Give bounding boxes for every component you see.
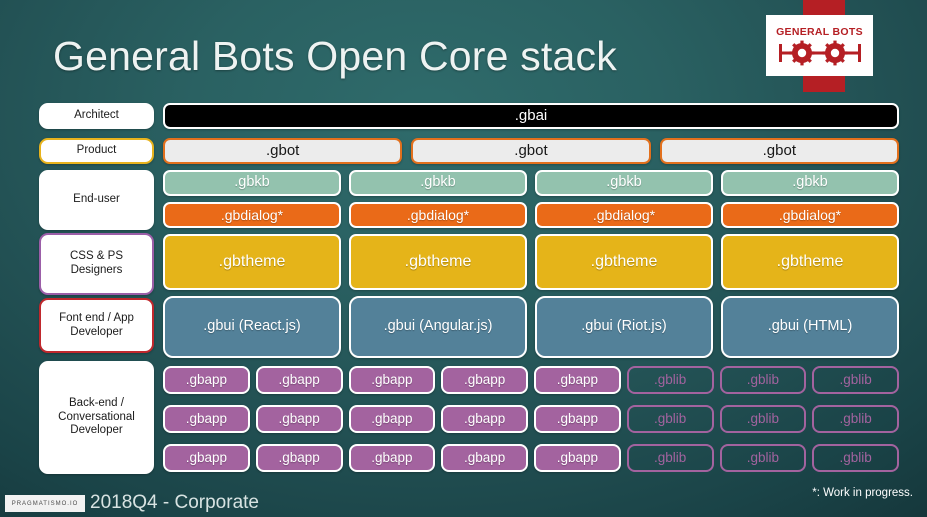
grid-gbapp-item: .gbapp: [349, 366, 436, 394]
grid-gbapp-item: .gbapp: [256, 405, 343, 433]
row-gbot-item: .gbot: [411, 138, 650, 164]
row-gbui-item: .gbui (Angular.js): [349, 296, 527, 358]
grid-gblib-item: .gblib: [720, 366, 807, 394]
footer-note: *: Work in progress.: [812, 487, 913, 499]
role-label-line: Back-end /: [69, 397, 124, 411]
role-label-line: Product: [77, 144, 117, 158]
grid-gbapp-item: .gbapp: [441, 444, 528, 472]
role-label-line: Conversational: [58, 411, 135, 425]
row-gbkb-item: .gbkb: [721, 170, 899, 196]
general-bots-logo: GENERAL BOTS: [766, 15, 873, 76]
row-gbtheme-item: .gbtheme: [163, 234, 341, 290]
row-gbkb-item: .gbkb: [349, 170, 527, 196]
row-gbot-item: .gbot: [660, 138, 899, 164]
slide: GENERAL BOTS: [0, 0, 927, 517]
role-label-line: Font end / App: [59, 312, 134, 326]
gears-logo-icon: [777, 40, 863, 66]
row-gbtheme-item: .gbtheme: [349, 234, 527, 290]
row-gbkb-item: .gbkb: [163, 170, 341, 196]
grid-gblib-item: .gblib: [627, 405, 714, 433]
role-chip: Architect: [39, 103, 154, 129]
role-label-line: CSS & PS: [70, 250, 123, 264]
row-gbai-item: .gbai: [163, 103, 899, 129]
grid-gbapp-item: .gbapp: [534, 444, 621, 472]
role-label-line: End-user: [73, 193, 120, 207]
grid-gbapp-item: .gbapp: [163, 366, 250, 394]
row-gbui-item: .gbui (Riot.js): [535, 296, 713, 358]
grid-gblib-item: .gblib: [720, 444, 807, 472]
role-chip: Product: [39, 138, 154, 164]
grid-gbapp-item: .gbapp: [349, 405, 436, 433]
footer-edition: 2018Q4 - Corporate: [90, 492, 259, 514]
pragmatismo-logo: PRAGMATISMO.IO: [5, 495, 85, 512]
grid-gbapp-item: .gbapp: [441, 405, 528, 433]
grid-gblib-item: .gblib: [812, 444, 899, 472]
grid-gbapp-item: .gbapp: [534, 405, 621, 433]
row-gbdialog-item: .gbdialog*: [349, 202, 527, 228]
role-chip: Back-end /ConversationalDeveloper: [39, 361, 154, 474]
row-gbui-item: .gbui (React.js): [163, 296, 341, 358]
logo-wordmark: GENERAL BOTS: [776, 26, 863, 38]
role-chip: CSS & PSDesigners: [39, 233, 154, 295]
role-label-line: Developer: [70, 326, 122, 340]
grid-gblib-item: .gblib: [627, 366, 714, 394]
grid-gbapp-item: .gbapp: [163, 444, 250, 472]
row-gbdialog-item: .gbdialog*: [163, 202, 341, 228]
grid-gbapp-item: .gbapp: [163, 405, 250, 433]
row-gbdialog-item: .gbdialog*: [721, 202, 899, 228]
row-gbtheme-item: .gbtheme: [721, 234, 899, 290]
grid-gblib-item: .gblib: [812, 405, 899, 433]
role-label-line: Architect: [74, 109, 119, 123]
role-label-line: Designers: [71, 264, 123, 278]
row-gbot-item: .gbot: [163, 138, 402, 164]
grid-gblib-item: .gblib: [812, 366, 899, 394]
grid-gbapp-item: .gbapp: [256, 366, 343, 394]
grid-gblib-item: .gblib: [627, 444, 714, 472]
row-gbkb-item: .gbkb: [535, 170, 713, 196]
page-title: General Bots Open Core stack: [53, 33, 617, 80]
grid-gbapp-item: .gbapp: [256, 444, 343, 472]
role-label-line: Developer: [70, 424, 122, 438]
row-gbtheme-item: .gbtheme: [535, 234, 713, 290]
grid-gbapp-item: .gbapp: [534, 366, 621, 394]
row-gbdialog-item: .gbdialog*: [535, 202, 713, 228]
pragmatismo-logo-text: PRAGMATISMO.IO: [12, 501, 79, 507]
grid-gbapp-item: .gbapp: [349, 444, 436, 472]
row-gbui-item: .gbui (HTML): [721, 296, 899, 358]
role-chip: Font end / AppDeveloper: [39, 298, 154, 353]
grid-gblib-item: .gblib: [720, 405, 807, 433]
grid-gbapp-item: .gbapp: [441, 366, 528, 394]
role-chip: End-user: [39, 170, 154, 230]
